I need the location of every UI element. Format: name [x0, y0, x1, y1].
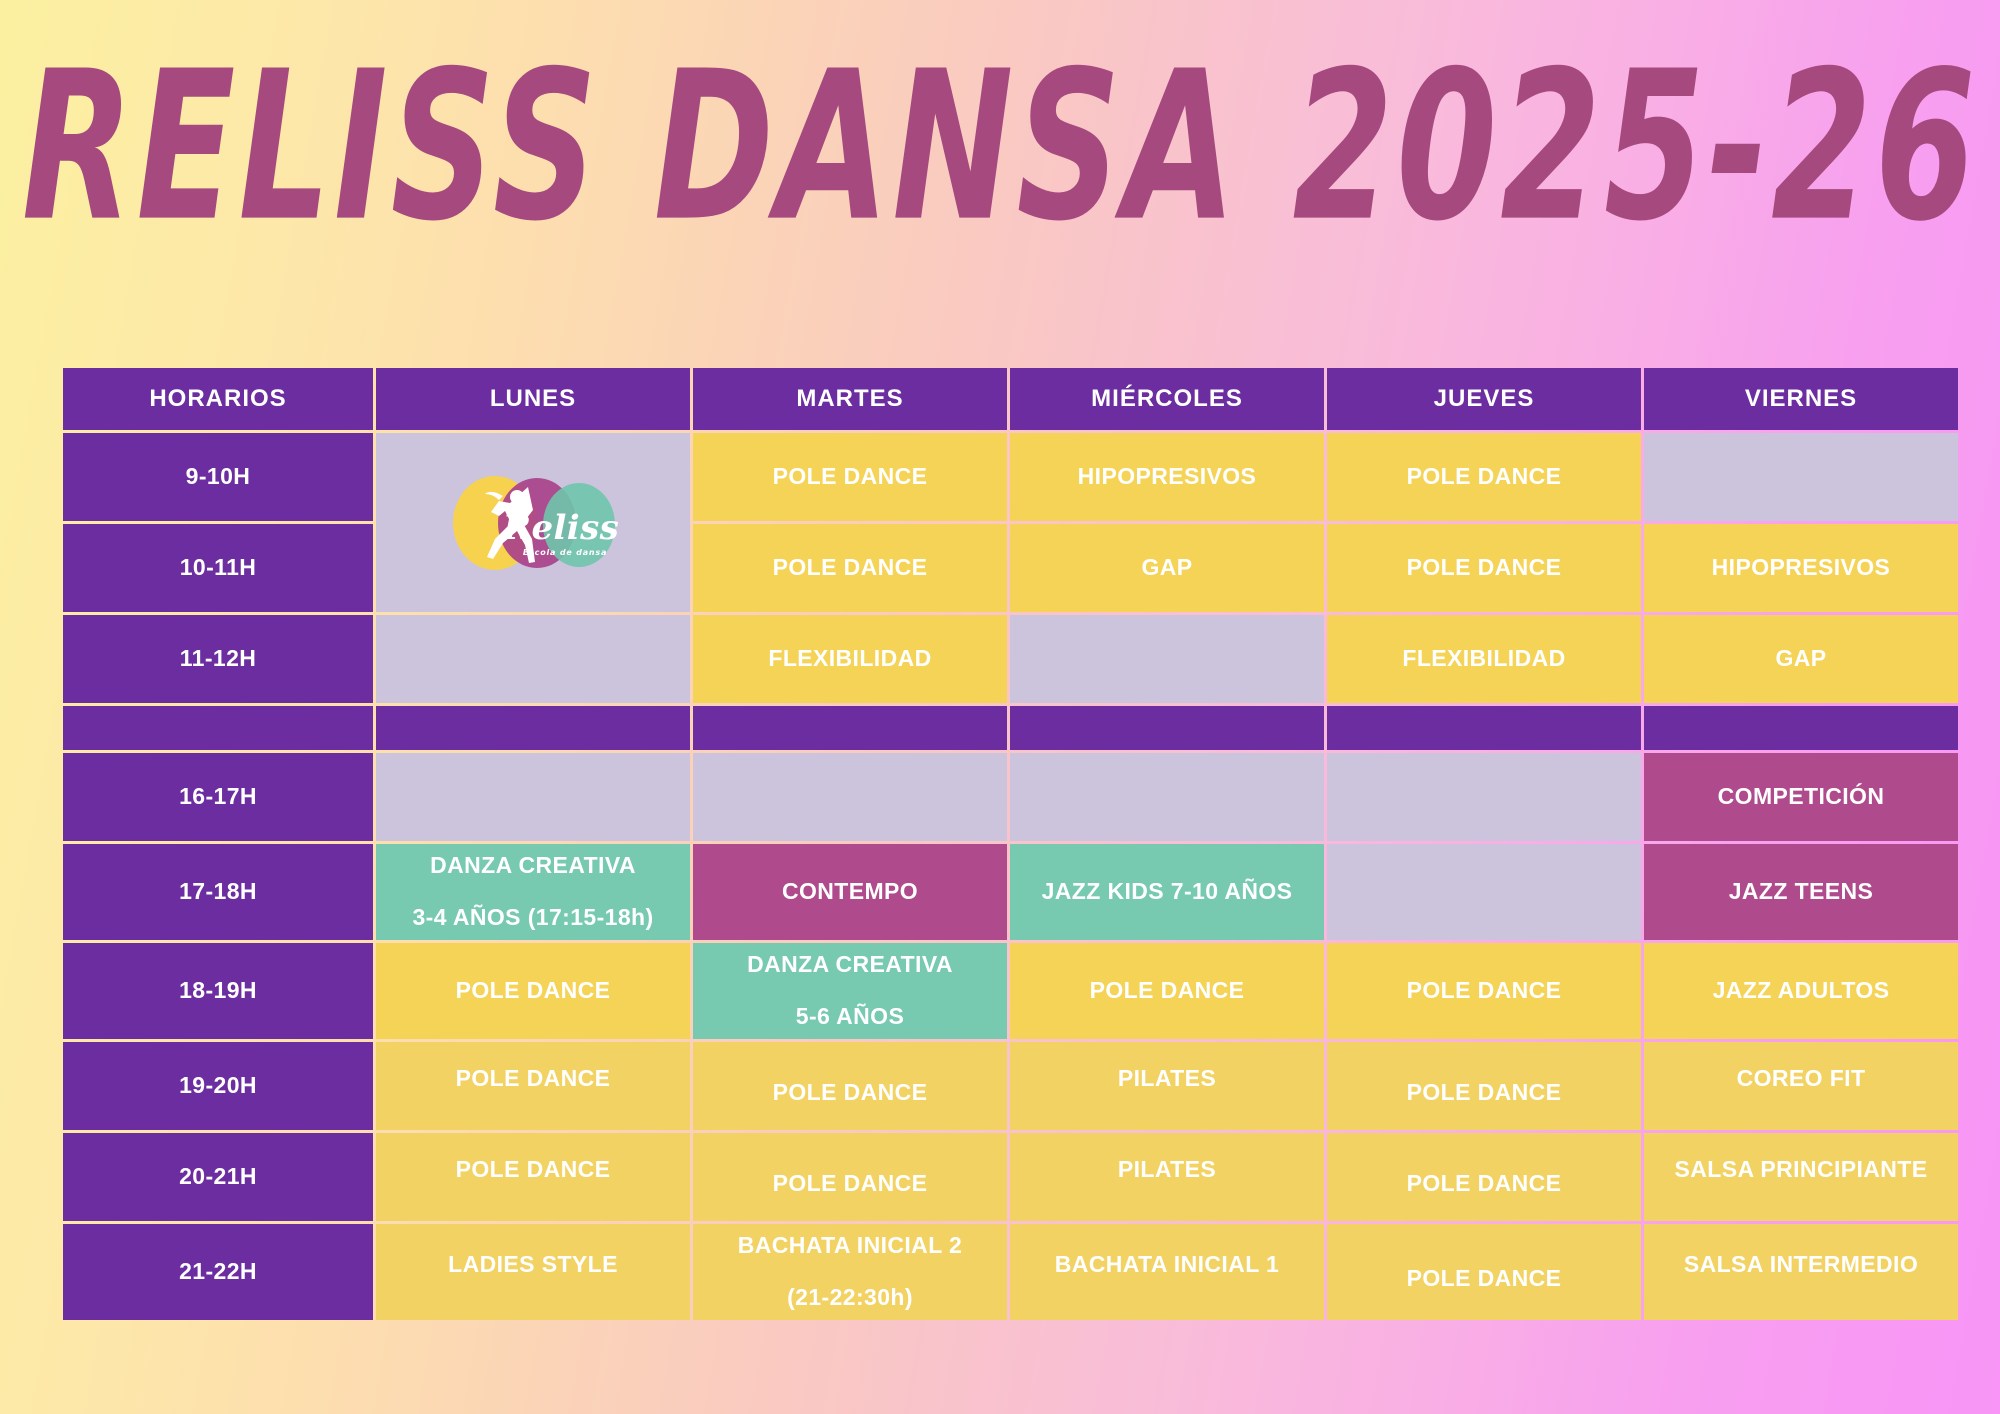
schedule-row: 16-17HCOMPETICIÓN: [63, 753, 1958, 841]
schedule-row: 18-19HPOLE DANCEDANZA CREATIVA5-6 AÑOSPO…: [63, 943, 1958, 1039]
schedule-row: 10-11HPOLE DANCEGAPPOLE DANCEHIPOPRESIVO…: [63, 524, 1958, 612]
class-cell: POLE DANCE: [376, 1042, 690, 1130]
class-cell: PILATES: [1010, 1042, 1324, 1130]
empty-cell: [693, 706, 1007, 750]
empty-cell: [1327, 706, 1641, 750]
time-label: 10-11H: [63, 524, 373, 612]
class-cell: POLE DANCE: [376, 1133, 690, 1221]
class-detail: 5-6 AÑOS: [699, 999, 1001, 1035]
class-name: DANZA CREATIVA: [699, 947, 1001, 983]
class-name: PILATES: [1118, 1156, 1216, 1182]
schedule-row: 17-18HDANZA CREATIVA3-4 AÑOS (17:15-18h)…: [63, 844, 1958, 940]
class-cell: JAZZ ADULTOS: [1644, 943, 1958, 1039]
class-name: FLEXIBILIDAD: [1402, 645, 1565, 671]
class-cell: GAP: [1010, 524, 1324, 612]
class-name: POLE DANCE: [1090, 977, 1245, 1003]
class-name: POLE DANCE: [773, 463, 928, 489]
class-cell: DANZA CREATIVA3-4 AÑOS (17:15-18h): [376, 844, 690, 940]
class-cell: HIPOPRESIVOS: [1010, 433, 1324, 521]
empty-cell: [1644, 706, 1958, 750]
time-label-empty: [63, 706, 373, 750]
time-label: 16-17H: [63, 753, 373, 841]
reliss-logo: Reliss Escola de dansa: [433, 467, 633, 579]
empty-cell: [1010, 753, 1324, 841]
page-title-container: RELISS DANSA 2025-26: [0, 48, 2000, 248]
class-cell: POLE DANCE: [1327, 943, 1641, 1039]
class-cell: POLE DANCE: [1327, 433, 1641, 521]
class-cell: POLE DANCE: [693, 1042, 1007, 1130]
class-name: POLE DANCE: [456, 977, 611, 1003]
logo-cell: Reliss Escola de dansa: [376, 433, 690, 612]
class-name: POLE DANCE: [1407, 1170, 1562, 1196]
class-cell: GAP: [1644, 615, 1958, 703]
class-cell: POLE DANCE: [376, 943, 690, 1039]
empty-cell: [376, 615, 690, 703]
class-cell: COMPETICIÓN: [1644, 753, 1958, 841]
empty-cell: [1327, 753, 1641, 841]
class-cell: SALSA PRINCIPIANTE: [1644, 1133, 1958, 1221]
class-cell: POLE DANCE: [1327, 1133, 1641, 1221]
empty-cell: [376, 753, 690, 841]
class-cell: CONTEMPO: [693, 844, 1007, 940]
class-cell: BACHATA INICIAL 1: [1010, 1224, 1324, 1320]
empty-cell: [1010, 706, 1324, 750]
class-cell: POLE DANCE: [693, 1133, 1007, 1221]
column-header-viernes: VIERNES: [1644, 368, 1958, 430]
class-name: DANZA CREATIVA: [382, 848, 684, 884]
class-name: SALSA INTERMEDIO: [1684, 1251, 1918, 1277]
column-header-miercoles: MIÉRCOLES: [1010, 368, 1324, 430]
time-label: 19-20H: [63, 1042, 373, 1130]
schedule-body: 9-10H Reliss Escola de dansa POLE DANCEH…: [63, 433, 1958, 1320]
class-cell: POLE DANCE: [693, 433, 1007, 521]
class-cell: FLEXIBILIDAD: [1327, 615, 1641, 703]
class-cell: PILATES: [1010, 1133, 1324, 1221]
class-name: COREO FIT: [1737, 1065, 1866, 1091]
empty-cell: [1327, 844, 1641, 940]
class-cell: LADIES STYLE: [376, 1224, 690, 1320]
class-detail: 3-4 AÑOS (17:15-18h): [382, 900, 684, 936]
class-name: COMPETICIÓN: [1718, 783, 1885, 809]
schedule-header: HORARIOS LUNES MARTES MIÉRCOLES JUEVES V…: [63, 368, 1958, 430]
empty-cell: [376, 706, 690, 750]
column-header-horarios: HORARIOS: [63, 368, 373, 430]
class-cell: POLE DANCE: [1327, 1224, 1641, 1320]
class-cell: JAZZ KIDS 7-10 AÑOS: [1010, 844, 1324, 940]
class-cell: POLE DANCE: [1327, 524, 1641, 612]
class-cell: POLE DANCE: [1010, 943, 1324, 1039]
class-name: POLE DANCE: [456, 1065, 611, 1091]
class-cell: DANZA CREATIVA5-6 AÑOS: [693, 943, 1007, 1039]
class-name: CONTEMPO: [782, 878, 918, 904]
class-cell: POLE DANCE: [693, 524, 1007, 612]
class-cell: FLEXIBILIDAD: [693, 615, 1007, 703]
class-name: GAP: [1141, 554, 1192, 580]
class-name: BACHATA INICIAL 1: [1055, 1251, 1279, 1277]
empty-cell: [1644, 433, 1958, 521]
class-name: POLE DANCE: [1407, 554, 1562, 580]
class-cell: BACHATA INICIAL 2(21-22:30h): [693, 1224, 1007, 1320]
class-name: SALSA PRINCIPIANTE: [1675, 1156, 1928, 1182]
class-cell: COREO FIT: [1644, 1042, 1958, 1130]
class-name: POLE DANCE: [773, 1079, 928, 1105]
class-name: POLE DANCE: [773, 1170, 928, 1196]
class-name: POLE DANCE: [1407, 1265, 1562, 1291]
class-cell: HIPOPRESIVOS: [1644, 524, 1958, 612]
class-name: GAP: [1775, 645, 1826, 671]
column-header-martes: MARTES: [693, 368, 1007, 430]
schedule-separator-row: [63, 706, 1958, 750]
empty-cell: [1010, 615, 1324, 703]
empty-cell: [693, 753, 1007, 841]
class-name: PILATES: [1118, 1065, 1216, 1091]
schedule-row: 11-12HFLEXIBILIDADFLEXIBILIDADGAP: [63, 615, 1958, 703]
class-name: POLE DANCE: [773, 554, 928, 580]
class-name: POLE DANCE: [456, 1156, 611, 1182]
time-label: 20-21H: [63, 1133, 373, 1221]
schedule-row: 19-20HPOLE DANCEPOLE DANCEPILATESPOLE DA…: [63, 1042, 1958, 1130]
class-name: BACHATA INICIAL 2: [699, 1228, 1001, 1264]
class-name: HIPOPRESIVOS: [1712, 554, 1891, 580]
class-cell: JAZZ TEENS: [1644, 844, 1958, 940]
class-name: JAZZ ADULTOS: [1713, 977, 1890, 1003]
class-name: JAZZ KIDS 7-10 AÑOS: [1042, 878, 1293, 904]
class-cell: SALSA INTERMEDIO: [1644, 1224, 1958, 1320]
column-header-jueves: JUEVES: [1327, 368, 1641, 430]
schedule-row: 9-10H Reliss Escola de dansa POLE DANCEH…: [63, 433, 1958, 521]
class-name: LADIES STYLE: [448, 1251, 618, 1277]
class-name: JAZZ TEENS: [1729, 878, 1874, 904]
time-label: 21-22H: [63, 1224, 373, 1320]
time-label: 18-19H: [63, 943, 373, 1039]
schedule-row: 21-22HLADIES STYLEBACHATA INICIAL 2(21-2…: [63, 1224, 1958, 1320]
time-label: 11-12H: [63, 615, 373, 703]
svg-text:Reliss: Reliss: [502, 508, 619, 548]
class-name: POLE DANCE: [1407, 977, 1562, 1003]
header-row: HORARIOS LUNES MARTES MIÉRCOLES JUEVES V…: [63, 368, 1958, 430]
column-header-lunes: LUNES: [376, 368, 690, 430]
time-label: 9-10H: [63, 433, 373, 521]
class-name: FLEXIBILIDAD: [768, 645, 931, 671]
schedule-row: 20-21HPOLE DANCEPOLE DANCEPILATESPOLE DA…: [63, 1133, 1958, 1221]
schedule-table: HORARIOS LUNES MARTES MIÉRCOLES JUEVES V…: [60, 365, 1961, 1323]
svg-text:Escola de dansa: Escola de dansa: [523, 548, 607, 557]
class-name: POLE DANCE: [1407, 463, 1562, 489]
class-name: HIPOPRESIVOS: [1078, 463, 1257, 489]
class-name: POLE DANCE: [1407, 1079, 1562, 1105]
time-label: 17-18H: [63, 844, 373, 940]
class-cell: POLE DANCE: [1327, 1042, 1641, 1130]
page-title: RELISS DANSA 2025-26: [22, 45, 1979, 251]
class-detail: (21-22:30h): [699, 1280, 1001, 1316]
